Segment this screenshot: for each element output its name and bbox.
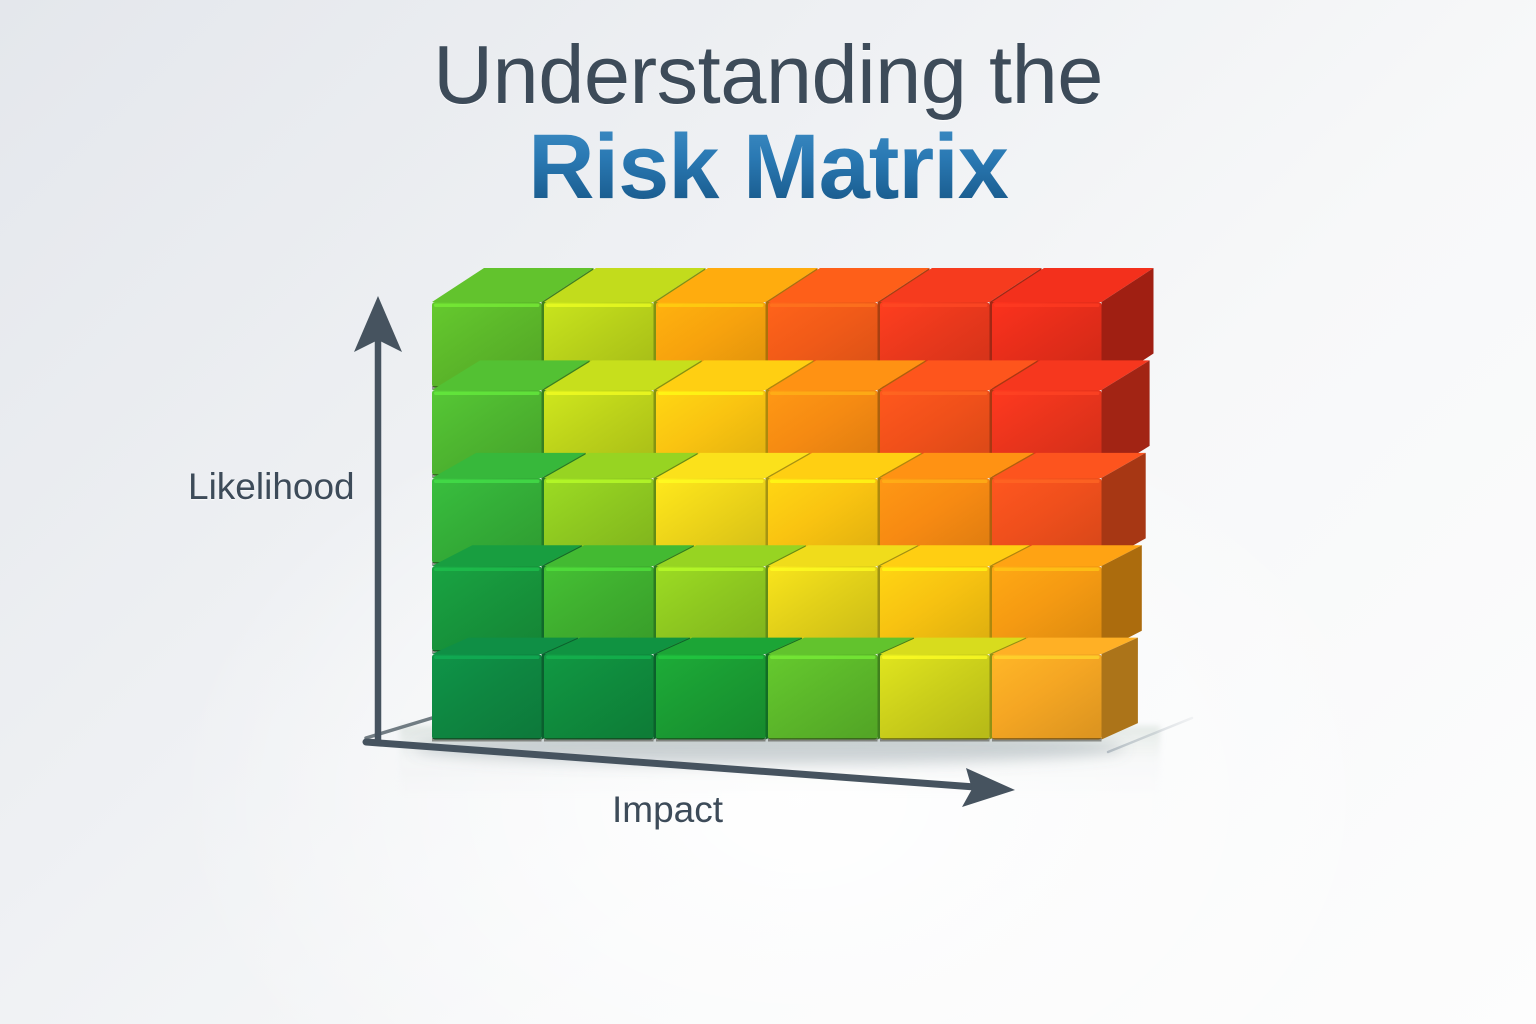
risk-cell-front-face [992,654,1102,740]
y-axis-label: Likelihood [188,466,355,508]
risk-cell-highlight [434,304,540,308]
risk-cell-highlight [882,392,988,396]
risk-cell-highlight [546,480,652,484]
risk-cell-side-face [1102,638,1138,740]
risk-cell-highlight [994,480,1100,484]
risk-cell-front-face [768,654,878,740]
risk-cell-highlight [434,480,540,484]
risk-cell-seam [656,738,766,742]
risk-cell-seam [880,738,990,742]
risk-cell-highlight [994,392,1100,396]
risk-cell-highlight [658,392,764,396]
risk-cell-front-face [544,654,654,740]
infographic-canvas: Understanding the Risk Matrix [0,0,1536,1024]
risk-cell-highlight [658,304,764,308]
risk-cell-highlight [434,656,540,660]
page-title-line-2: Risk Matrix [0,121,1536,213]
risk-cell-seam [992,738,1102,742]
risk-cell[interactable] [992,545,1142,653]
risk-cell-highlight [882,480,988,484]
title-block: Understanding the Risk Matrix [0,34,1536,213]
risk-cell-highlight [658,656,764,660]
risk-cell-highlight [994,304,1100,308]
risk-cell-highlight [770,568,876,572]
y-axis-likelihood [354,296,402,742]
risk-cell-seam [432,738,542,742]
risk-cell-seam [768,738,878,742]
risk-cell-highlight [994,568,1100,572]
risk-cell-front-face [880,654,990,740]
risk-cell-highlight [546,392,652,396]
risk-cell-highlight [882,304,988,308]
risk-cell-highlight [658,480,764,484]
risk-cell-highlight [546,304,652,308]
x-axis-label: Impact [612,789,723,831]
floor-plate-left [366,718,432,738]
risk-cell-highlight [434,568,540,572]
risk-cell-highlight [770,304,876,308]
risk-cell-seam [544,738,654,742]
risk-cell-front-face [656,654,766,740]
risk-cell-highlight [994,656,1100,660]
page-title-line-1: Understanding the [0,34,1536,115]
risk-cell-highlight [546,656,652,660]
risk-cell-highlight [882,656,988,660]
risk-cell-highlight [434,392,540,396]
risk-cell[interactable] [992,638,1138,742]
risk-cell-front-face [432,654,542,740]
risk-cell-highlight [770,392,876,396]
risk-cell-highlight [770,656,876,660]
risk-cell-highlight [546,568,652,572]
risk-cell-highlight [658,568,764,572]
risk-cell-highlight [882,568,988,572]
risk-cell-highlight [770,480,876,484]
